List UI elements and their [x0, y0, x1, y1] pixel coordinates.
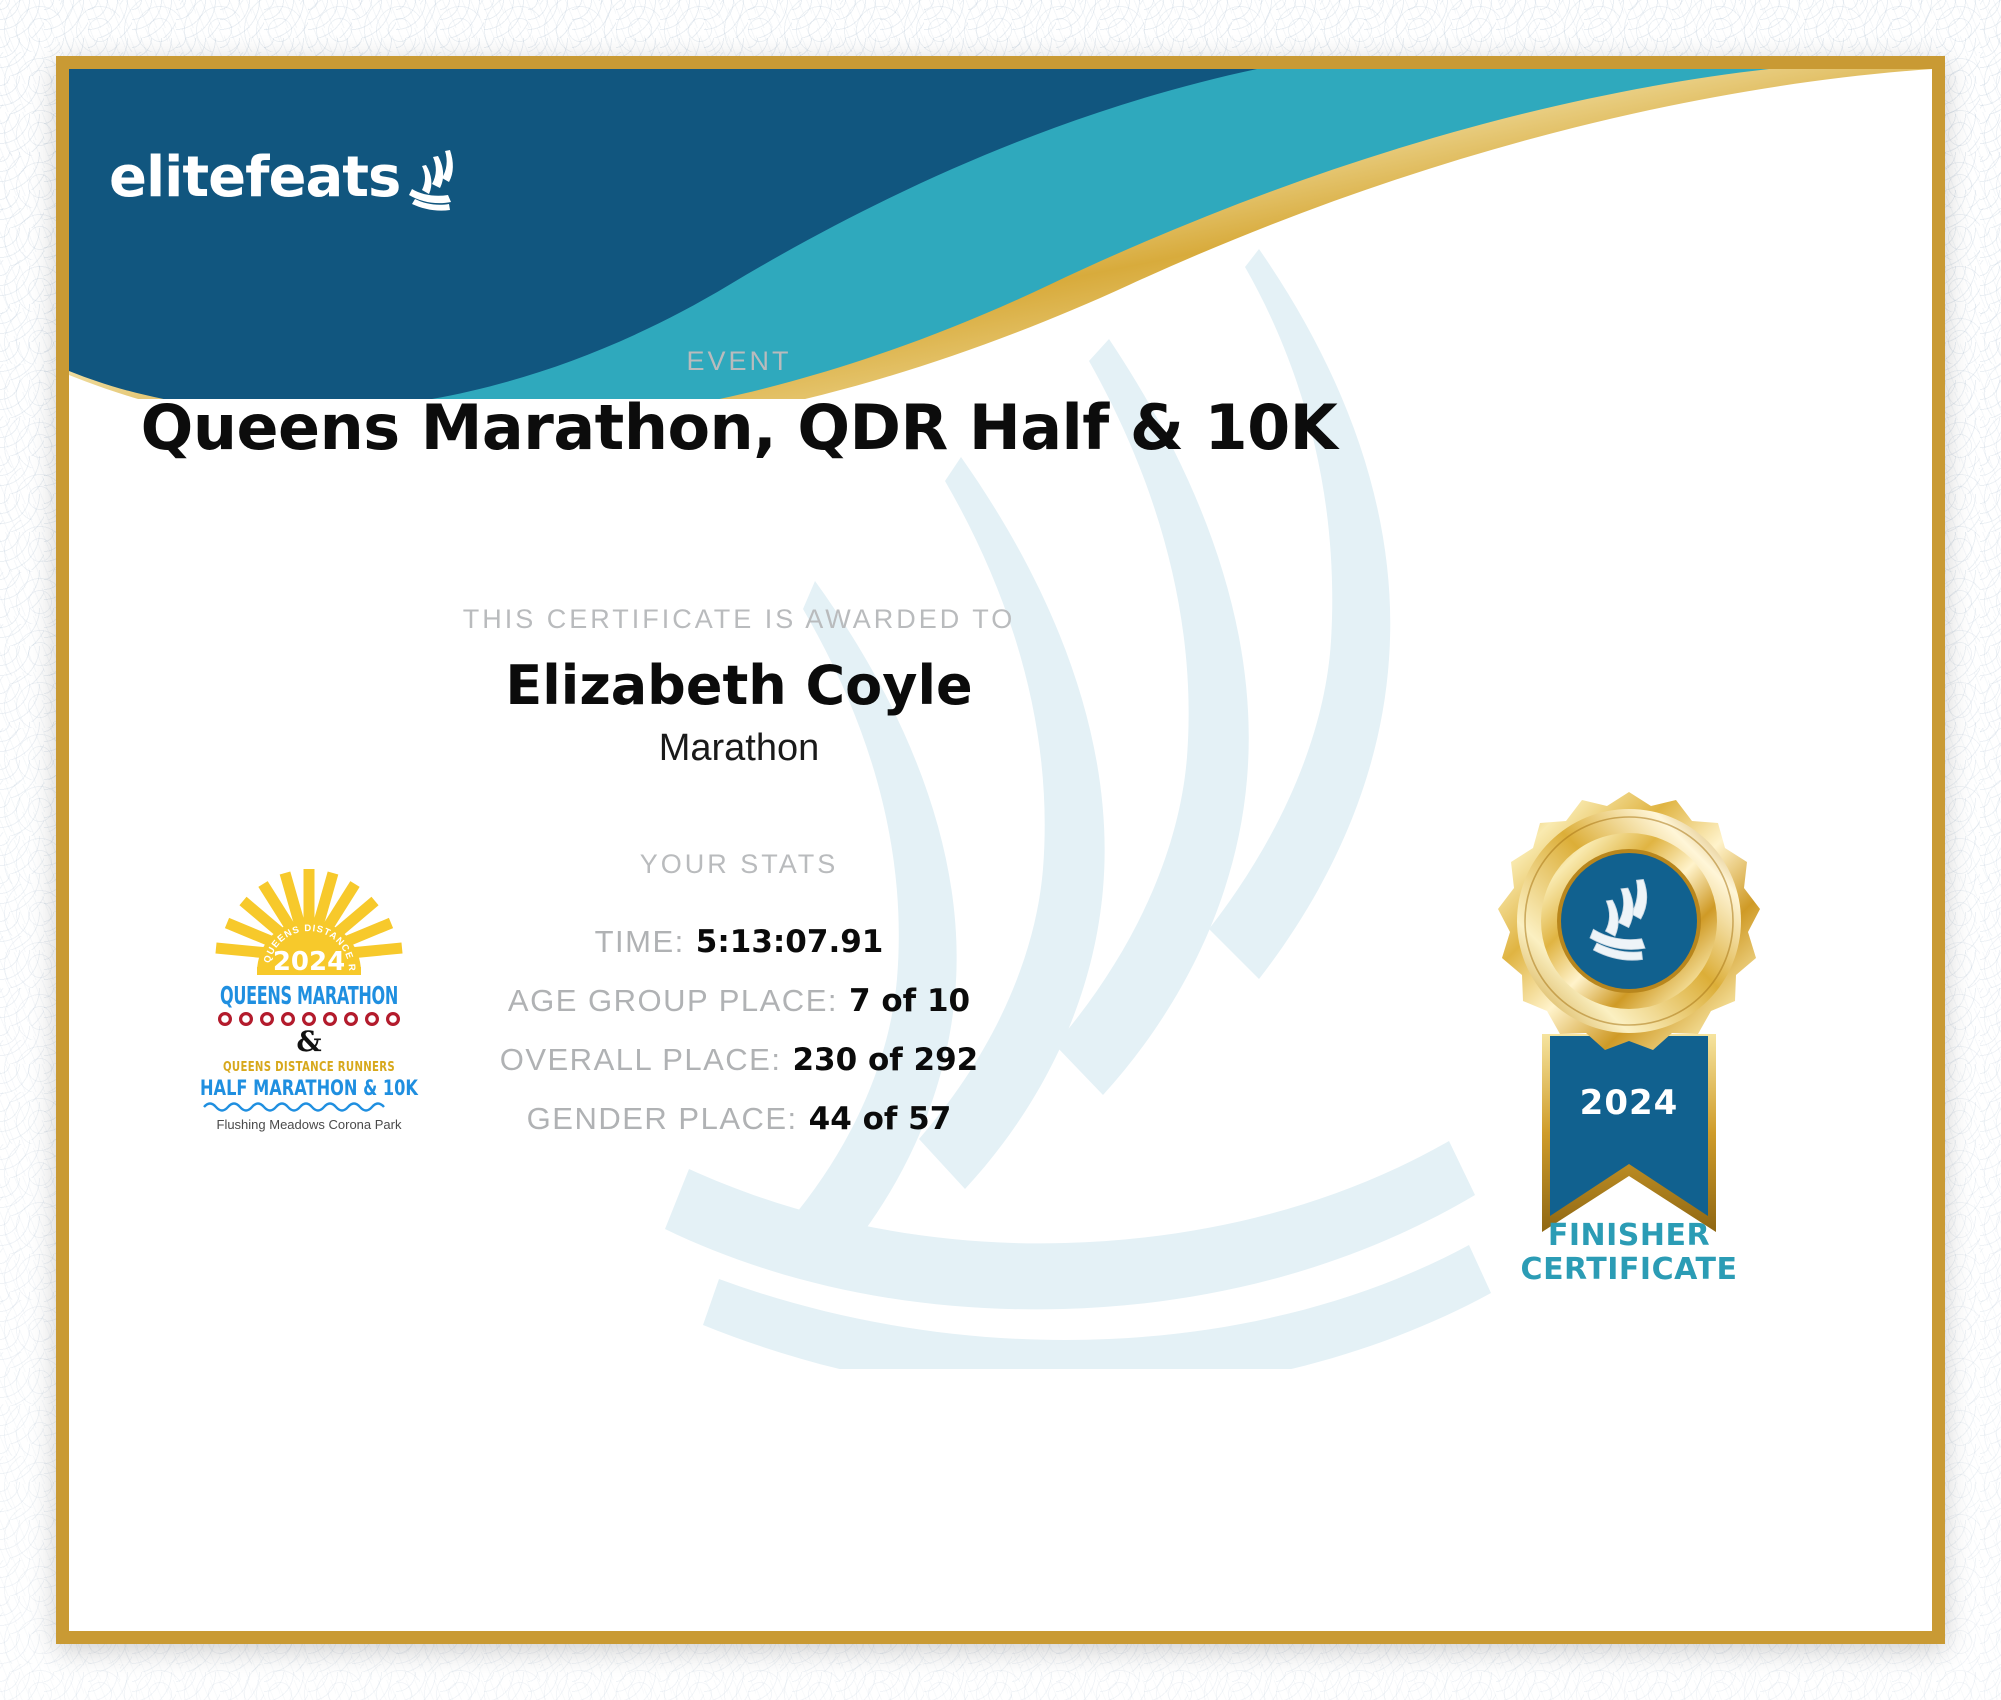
event-logo-year: 2024: [273, 947, 345, 977]
medal-ribbon: [1550, 1036, 1708, 1216]
stat-label: AGE GROUP PLACE:: [508, 983, 838, 1019]
event-logo-venue: Flushing Meadows Corona Park: [217, 1117, 402, 1132]
event-logo-line2: QUEENS DISTANCE RUNNERS: [223, 1060, 395, 1075]
certificate-content: EVENT Queens Marathon, QDR Half & 10K TH…: [69, 69, 1932, 1631]
event-logo-ampersand: &: [296, 1025, 321, 1058]
event-logo-line1: QUEENS MARATHON: [220, 981, 398, 1010]
medal-caption: FINISHER CERTIFICATE: [1484, 1219, 1774, 1286]
recipient-event-distance: Marathon: [69, 727, 1409, 770]
event-title: Queens Marathon, QDR Half & 10K: [69, 391, 1409, 464]
recipient-name: Elizabeth Coyle: [69, 654, 1409, 717]
certificate-card: elitefeats EVENT Queens Marathon, QDR Ha…: [56, 56, 1945, 1644]
stat-value: 230 of 292: [792, 1042, 978, 1078]
stat-value: 44 of 57: [809, 1101, 952, 1137]
stat-value: 5:13:07.91: [696, 924, 884, 960]
event-logo-dot-row: [220, 1014, 399, 1025]
stat-label: TIME:: [595, 924, 685, 960]
certificate-inner: elitefeats EVENT Queens Marathon, QDR Ha…: [69, 69, 1932, 1631]
awarded-to-label: THIS CERTIFICATE IS AWARDED TO: [69, 604, 1409, 635]
medal-caption-line2: CERTIFICATE: [1484, 1253, 1774, 1287]
stat-label: OVERALL PLACE:: [500, 1042, 782, 1078]
stat-label: GENDER PLACE:: [527, 1101, 798, 1137]
medal-caption-line1: FINISHER: [1484, 1219, 1774, 1253]
event-kicker-label: EVENT: [69, 346, 1409, 377]
stat-value: 7 of 10: [849, 983, 970, 1019]
event-logo-line3: HALF MARATHON & 10K: [200, 1076, 419, 1100]
event-logo-squiggle: [204, 1104, 384, 1111]
medal-ribbon-year: 2024: [1580, 1083, 1679, 1123]
queens-marathon-event-logo: QUEENS DISTANCE RUNNERS 2024 QUEENS MARA…: [174, 839, 444, 1139]
